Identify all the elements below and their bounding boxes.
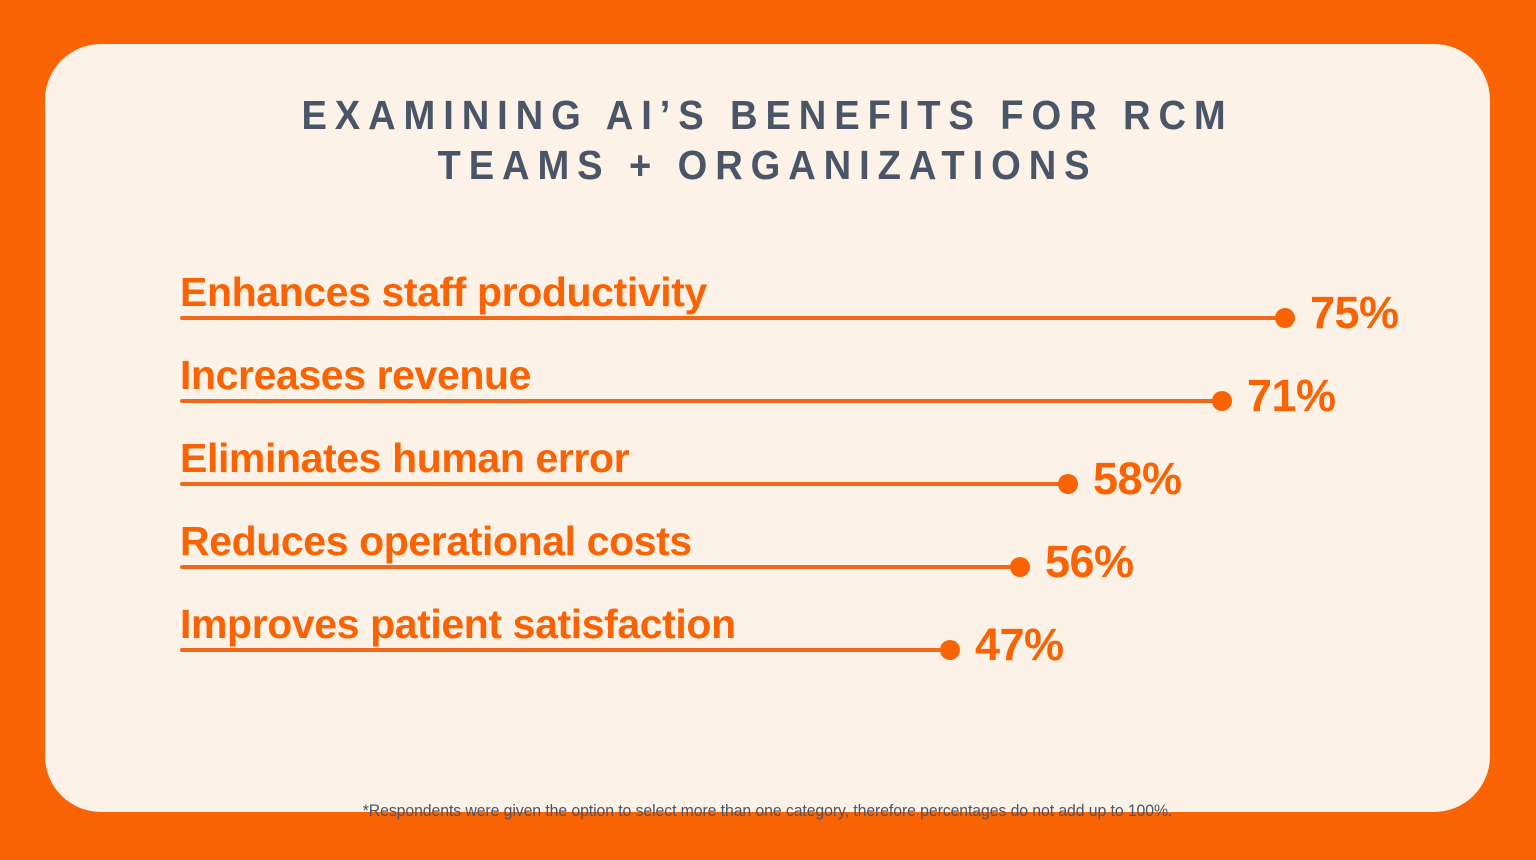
chart-row-label: Increases revenue [180, 355, 531, 396]
benefits-chart: Enhances staff productivity 75% Increase… [180, 256, 1490, 671]
chart-row-label: Eliminates human error [180, 438, 629, 479]
chart-row-line [180, 482, 1068, 486]
chart-row-endpoint-dot [1010, 557, 1030, 577]
page-title-line-2: Teams + Organizations [438, 142, 1098, 188]
chart-row-line [180, 648, 950, 652]
chart-footnote: *Respondents were given the option to se… [74, 802, 1461, 821]
chart-row-4: Reduces operational costs 56% [180, 505, 1490, 588]
chart-row-line [180, 316, 1285, 320]
chart-row-value: 56% [1045, 539, 1134, 584]
chart-row-5: Improves patient satisfaction 47% [180, 588, 1490, 671]
chart-row-endpoint-dot [1212, 391, 1232, 411]
page-title: Examining AI’s Benefits for RCM Teams + … [96, 90, 1440, 190]
chart-row-value: 58% [1093, 456, 1182, 501]
chart-row-line [180, 565, 1020, 569]
chart-row-value: 47% [975, 622, 1064, 667]
chart-row-value: 71% [1247, 373, 1336, 418]
chart-row-value: 75% [1310, 290, 1399, 335]
chart-row-endpoint-dot [940, 640, 960, 660]
content-card: Examining AI’s Benefits for RCM Teams + … [45, 44, 1490, 812]
chart-row-label: Reduces operational costs [180, 521, 692, 562]
chart-row-endpoint-dot [1275, 308, 1295, 328]
chart-row-1: Enhances staff productivity 75% [180, 256, 1490, 339]
chart-row-endpoint-dot [1058, 474, 1078, 494]
page-title-line-1: Examining AI’s Benefits for RCM [301, 92, 1233, 138]
chart-row-2: Increases revenue 71% [180, 339, 1490, 422]
chart-row-label: Improves patient satisfaction [180, 604, 736, 645]
chart-row-3: Eliminates human error 58% [180, 422, 1490, 505]
chart-row-label: Enhances staff productivity [180, 272, 707, 313]
chart-row-line [180, 399, 1222, 403]
infographic-canvas: Examining AI’s Benefits for RCM Teams + … [0, 0, 1536, 860]
